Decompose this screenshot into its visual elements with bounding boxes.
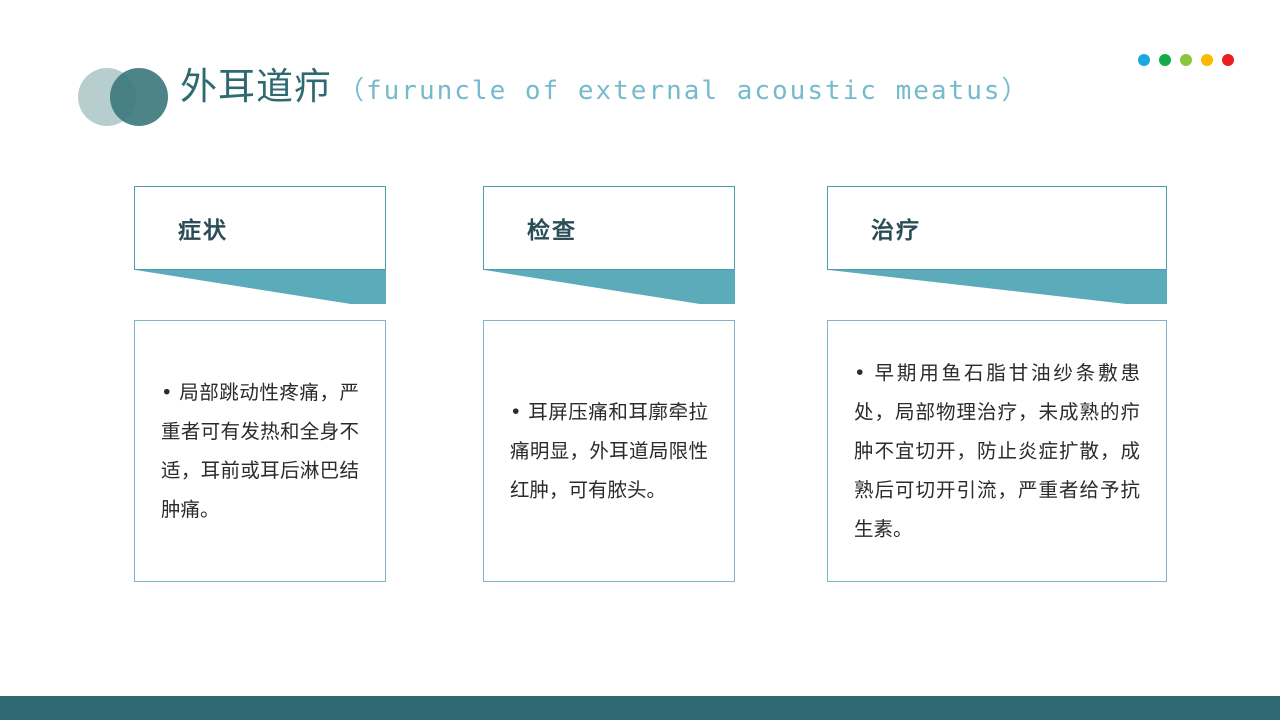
content-columns: 症状 • 局部跳动性疼痛，严重者可有发热和全身不适，耳前或耳后淋巴结肿痛。 检查…	[0, 0, 1280, 720]
column-examination: 检查 • 耳屏压痛和耳廓牵拉痛明显，外耳道局限性红肿，可有脓头。	[483, 186, 735, 270]
plate-box	[483, 186, 735, 270]
column-body-box: • 局部跳动性疼痛，严重者可有发热和全身不适，耳前或耳后淋巴结肿痛。	[134, 320, 386, 582]
column-symptoms: 症状 • 局部跳动性疼痛，严重者可有发热和全身不适，耳前或耳后淋巴结肿痛。	[134, 186, 386, 270]
plate-box	[134, 186, 386, 270]
footer-bar	[0, 696, 1280, 720]
column-body-text: • 早期用鱼石脂甘油纱条敷患处，局部物理治疗，未成熟的疖肿不宜切开，防止炎症扩散…	[828, 354, 1166, 549]
column-body-box: • 耳屏压痛和耳廓牵拉痛明显，外耳道局限性红肿，可有脓头。	[483, 320, 735, 582]
column-heading-label: 症状	[178, 186, 228, 270]
column-heading-label: 治疗	[871, 186, 921, 270]
column-heading-plate: 检查	[483, 186, 735, 270]
column-body-text: • 局部跳动性疼痛，严重者可有发热和全身不适，耳前或耳后淋巴结肿痛。	[135, 373, 385, 529]
column-treatment: 治疗 • 早期用鱼石脂甘油纱条敷患处，局部物理治疗，未成熟的疖肿不宜切开，防止炎…	[827, 186, 1167, 270]
column-heading-label: 检查	[527, 186, 577, 270]
column-body-box: • 早期用鱼石脂甘油纱条敷患处，局部物理治疗，未成熟的疖肿不宜切开，防止炎症扩散…	[827, 320, 1167, 582]
column-body-text: • 耳屏压痛和耳廓牵拉痛明显，外耳道局限性红肿，可有脓头。	[484, 393, 734, 510]
column-heading-plate: 症状	[134, 186, 386, 270]
column-heading-plate: 治疗	[827, 186, 1167, 270]
slide-root: 外耳道疖 （furuncle of external acoustic meat…	[0, 0, 1280, 720]
